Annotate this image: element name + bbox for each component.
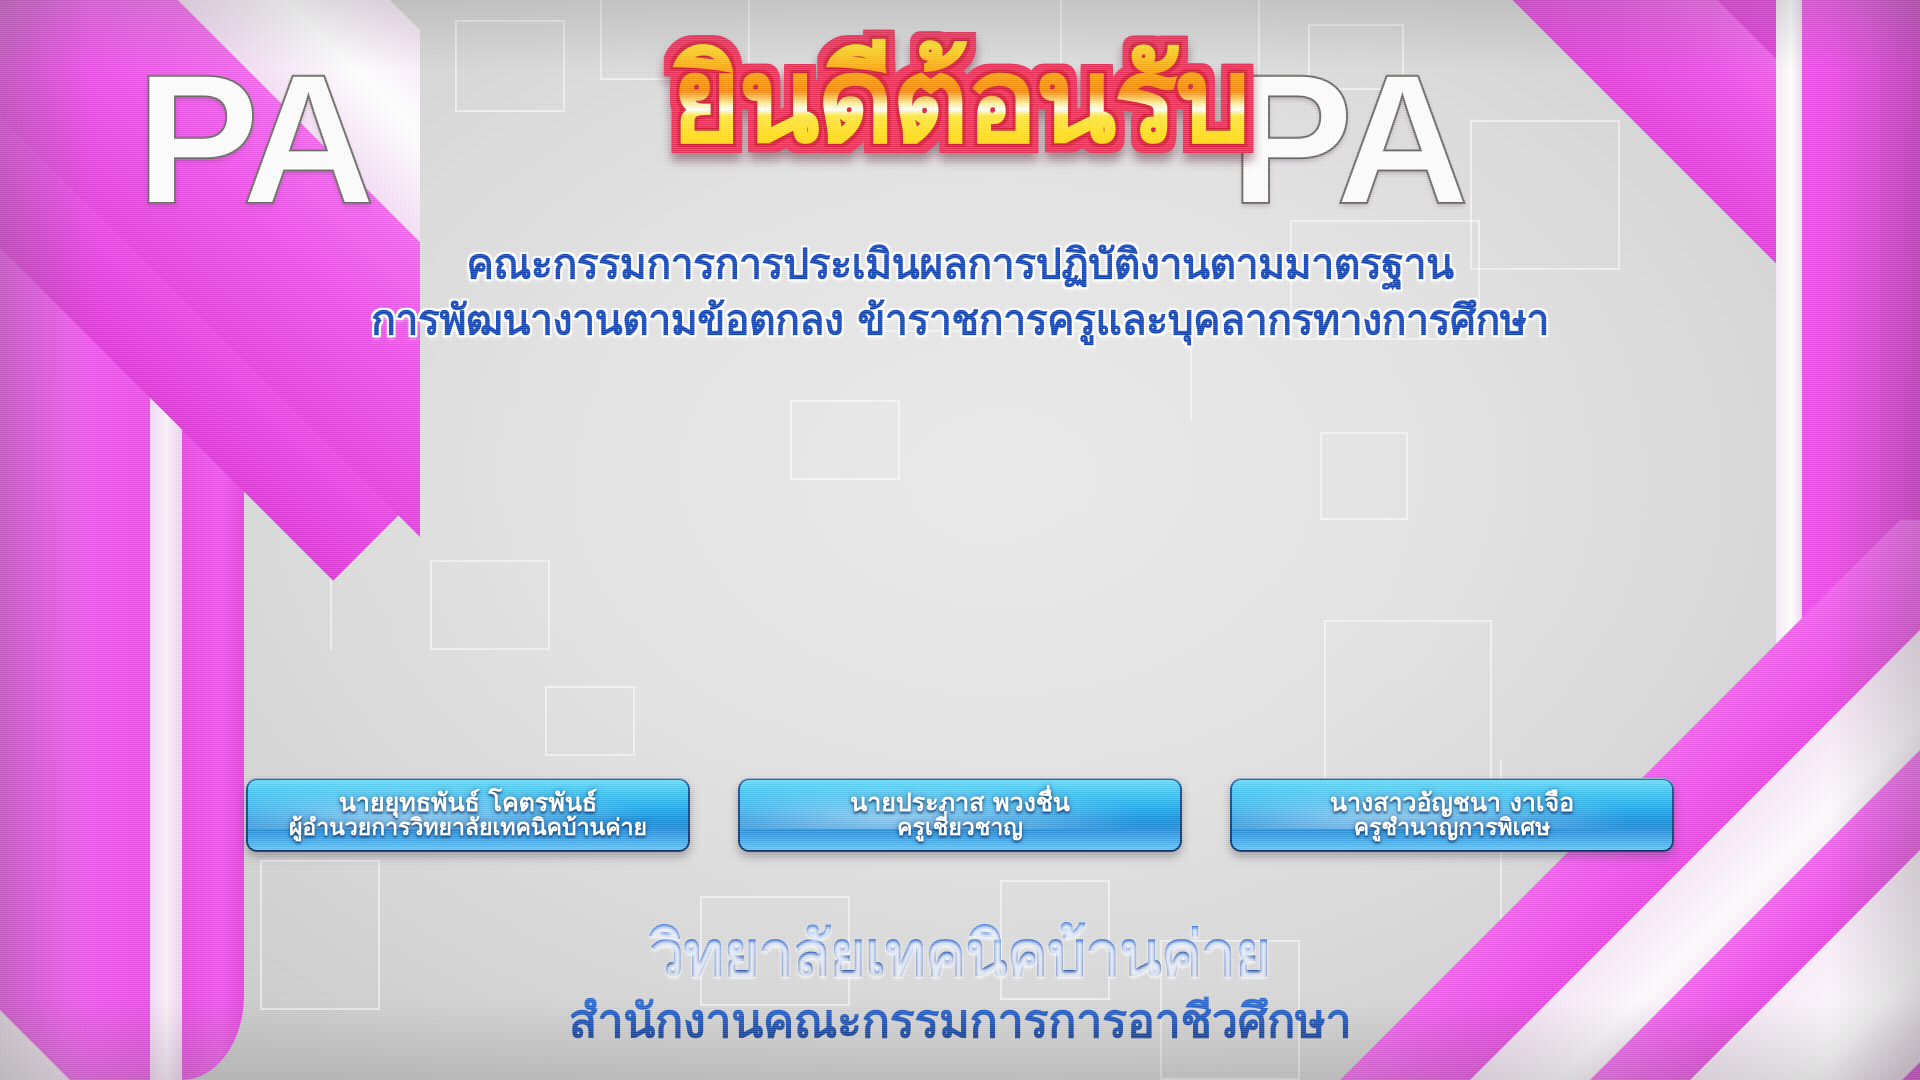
main-title-wrap: ยินดีต้อนรับ [0, 24, 1920, 177]
person-button-expert-teacher[interactable]: นายประภาส พวงชื่น ครูเชี่ยวชาญ [738, 778, 1182, 852]
subheading-line-2: การพัฒนางานตามข้อตกลง ข้าราชการครูและบุค… [0, 288, 1920, 353]
person-text: นางสาวอัญชนา งาเจือ ครูชำนาญการพิเศษ [1232, 780, 1672, 850]
person-role: ผู้อำนวยการวิทยาลัยเทคนิคบ้านค่าย [289, 816, 647, 841]
banner-stage: PA PA ยินดีต้อนรับ คณะกรรมการการประเมินผ… [0, 0, 1920, 1080]
institution-name: วิทยาลัยเทคนิคบ้านค่าย [0, 920, 1920, 988]
person-name: นายยุทธพันธ์ โคตรพันธ์ [339, 789, 597, 817]
person-text: นายยุทธพันธ์ โคตรพันธ์ ผู้อำนวยการวิทยาล… [248, 780, 688, 850]
person-button-surface: นางสาวอัญชนา งาเจือ ครูชำนาญการพิเศษ [1232, 780, 1672, 850]
person-role: ครูเชี่ยวชาญ [897, 816, 1023, 841]
person-text: นายประภาส พวงชื่น ครูเชี่ยวชาญ [740, 780, 1180, 850]
pattern-rect [790, 400, 900, 480]
main-title: ยินดีต้อนรับ [654, 24, 1267, 177]
footer: วิทยาลัยเทคนิคบ้านค่าย สำนักงานคณะกรรมกา… [0, 920, 1920, 1048]
person-button-director[interactable]: นายยุทธพันธ์ โคตรพันธ์ ผู้อำนวยการวิทยาล… [246, 778, 690, 852]
person-button-surface: นายประภาส พวงชื่น ครูเชี่ยวชาญ [740, 780, 1180, 850]
agency-name: สำนักงานคณะกรรมการการอาชีวศึกษา [0, 996, 1920, 1048]
pattern-rect [1320, 432, 1408, 520]
person-name: นางสาวอัญชนา งาเจือ [1330, 789, 1574, 817]
person-button-surface: นายยุทธพันธ์ โคตรพันธ์ ผู้อำนวยการวิทยาล… [248, 780, 688, 850]
person-button-special-teacher[interactable]: นางสาวอัญชนา งาเจือ ครูชำนาญการพิเศษ [1230, 778, 1674, 852]
person-name: นายประภาส พวงชื่น [850, 789, 1070, 817]
committee-list: นายยุทธพันธ์ โคตรพันธ์ ผู้อำนวยการวิทยาล… [0, 778, 1920, 852]
person-role: ครูชำนาญการพิเศษ [1354, 816, 1550, 841]
